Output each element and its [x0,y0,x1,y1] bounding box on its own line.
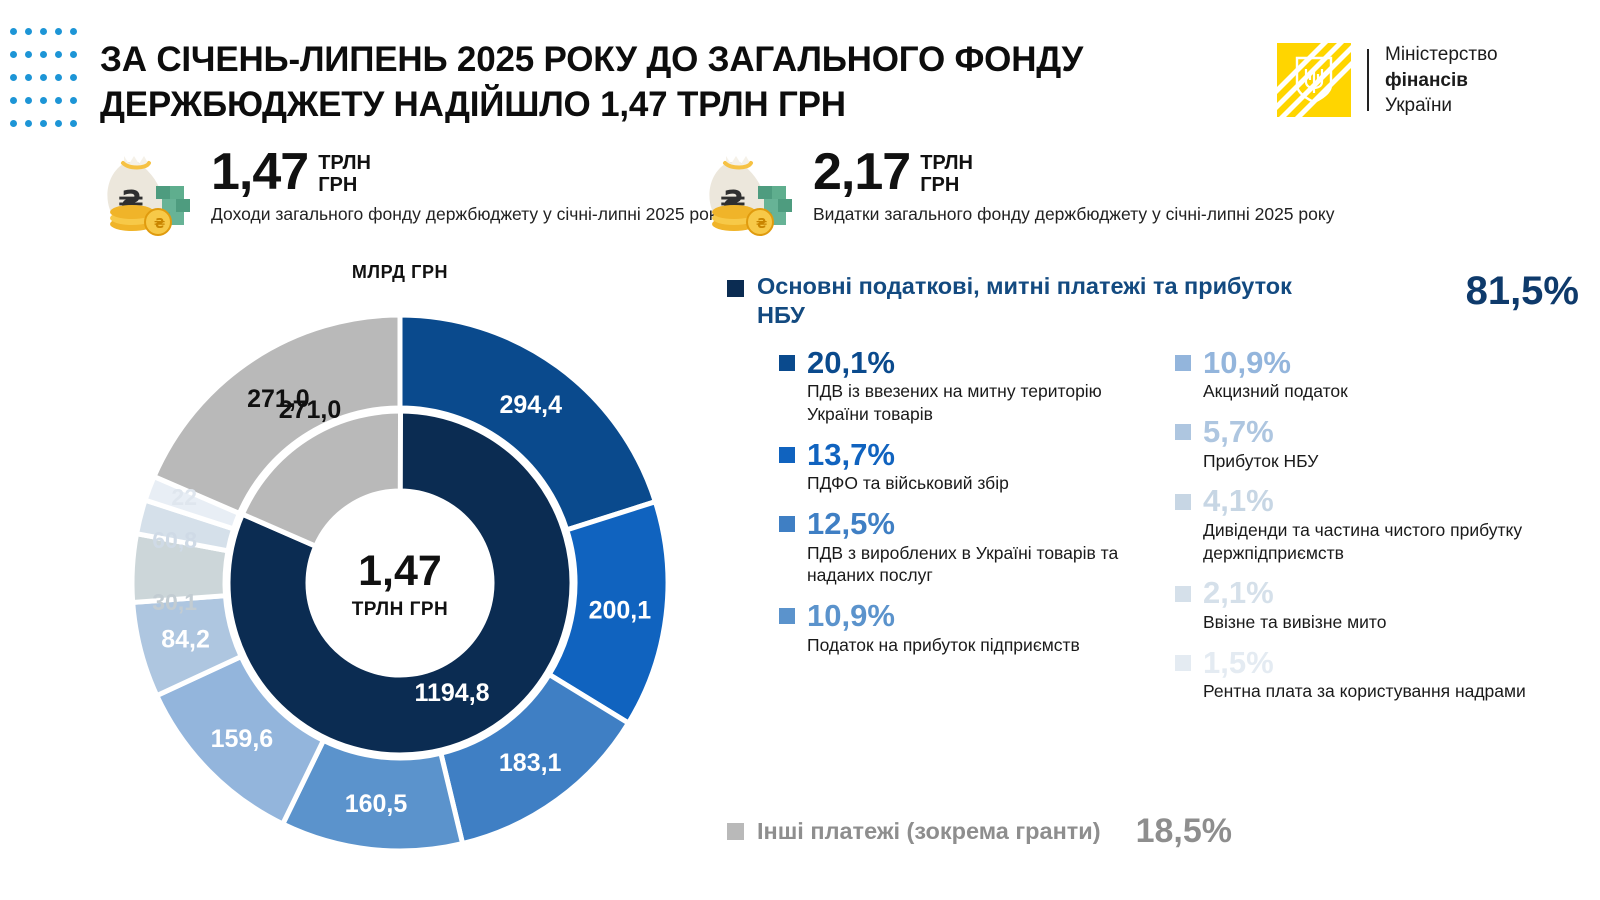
legend-item: 4,1%Дивіденди та частина чистого прибутк… [1175,485,1587,564]
legend-item-header: 13,7% [779,439,1167,472]
legend-item: 1,5%Рентна плата за користування надрами [1175,647,1587,703]
donut-outer-slice-label: 183,1 [499,749,562,777]
legend-item: 5,7%Прибуток НБУ [1175,416,1587,472]
legend-item: 10,9%Акцизний податок [1175,347,1587,403]
legend-column-left: 20,1%ПДВ із ввезених на митну територію … [727,347,1167,716]
grid-dot [40,51,47,58]
legend-item: 20,1%ПДВ із ввезених на митну територію … [779,347,1167,426]
legend-header-label: Основні податкові, митні платежі та приб… [757,272,1312,331]
legend-item-percent: 2,1% [1203,577,1274,610]
grid-dot [25,51,32,58]
grid-dot [55,97,62,104]
grid-dot [10,28,17,35]
legend-item: 12,5%ПДВ з вироблених в Україні товарів … [779,508,1167,587]
legend-item-percent: 1,5% [1203,647,1274,680]
grid-dot [70,51,77,58]
donut-thin-slice-label: 22 [171,484,197,510]
donut-outer-slice-label: 159,6 [211,725,274,753]
donut-thin-slice-label: 30,1 [152,589,197,615]
legend-item-header: 5,7% [1175,416,1587,449]
money-bag-icon: ₴ ₴ [96,142,201,242]
legend-item: 2,1%Ввізне та вивізне мито [1175,577,1587,633]
kpi-revenues: ₴ ₴ 1,47 ТРЛН ГРН Доходи загальног [96,142,725,242]
infographic-page: ЗА СІЧЕНЬ-ЛИПЕНЬ 2025 РОКУ ДО ЗАГАЛЬНОГО… [0,0,1600,900]
grid-dot [25,120,32,127]
grid-dot [40,97,47,104]
ministry-logo: Міністерство фінансів України [1277,42,1498,119]
kpi-expenditures: ₴ ₴ 2,17 ТРЛН ГРН Видатки загально [698,142,1334,242]
legend-header: Основні податкові, митні платежі та приб… [727,272,1587,331]
grid-dot [55,51,62,58]
grid-dot [55,28,62,35]
legend-item-header: 4,1% [1175,485,1587,518]
logo-line-1: Міністерство [1385,42,1498,68]
legend-item-description: Ввізне та вивізне мито [1175,611,1587,634]
money-bag-icon: ₴ ₴ [698,142,803,242]
donut-center-unit: ТРЛН ГРН [352,599,449,620]
page-title: ЗА СІЧЕНЬ-ЛИПЕНЬ 2025 РОКУ ДО ЗАГАЛЬНОГО… [100,38,1230,128]
grid-dot [40,28,47,35]
kpi-revenues-description: Доходи загального фонду держбюджету у сі… [211,203,725,226]
legend-item-description: ПДВ із ввезених на митну територію Украї… [779,380,1167,426]
svg-text:₴: ₴ [756,217,767,232]
legend-item-description: ПДФО та військовий збір [779,472,1167,495]
grid-dot [70,97,77,104]
kpi-expenditures-unit-1: ТРЛН [920,152,973,174]
grid-dot [70,120,77,127]
grid-dot [10,97,17,104]
chart-legend: Основні податкові, митні платежі та приб… [727,272,1587,716]
grid-dot [70,28,77,35]
legend-item-header: 1,5% [1175,647,1587,680]
legend-item-percent: 10,9% [1203,347,1291,380]
donut-inner-slice-label: 1194,8 [414,679,489,707]
legend-item-percent: 4,1% [1203,485,1274,518]
trident-emblem-icon [1277,43,1351,117]
kpi-expenditures-unit-2: ГРН [920,174,973,196]
donut-thin-slice-label: 60,8 [152,527,197,553]
grid-dot [55,74,62,81]
legend-item-swatch [1175,494,1191,510]
legend-column-right: 10,9%Акцизний податок5,7%Прибуток НБУ4,1… [1167,347,1587,716]
legend-item-swatch [779,355,795,371]
grid-dot [10,51,17,58]
legend-item-swatch [1175,355,1191,371]
legend-item-header: 12,5% [779,508,1167,541]
legend-item-header: 20,1% [779,347,1167,380]
legend-footer-label: Інші платежі (зокрема гранти) [757,818,1101,845]
legend-item-percent: 20,1% [807,347,895,380]
legend-item-percent: 5,7% [1203,416,1274,449]
legend-footer-swatch [727,823,744,840]
grid-dot [40,74,47,81]
grid-dot [40,120,47,127]
logo-wordmark: Міністерство фінансів України [1385,42,1498,119]
legend-item-swatch [779,516,795,532]
legend-item-description: Дивіденди та частина чистого прибутку де… [1175,519,1587,565]
legend-item-description: ПДВ з вироблених в Україні товарів та на… [779,542,1167,588]
kpi-expenditures-description: Видатки загального фонду держбюджету у с… [813,203,1334,226]
grid-dot [10,74,17,81]
legend-footer: Інші платежі (зокрема гранти) 18,5% [727,812,1232,851]
legend-item: 10,9%Податок на прибуток підприємств [779,600,1167,656]
svg-text:₴: ₴ [154,217,165,232]
legend-item-swatch [1175,586,1191,602]
logo-divider [1367,49,1369,111]
revenue-donut-chart: МЛРД ГРН 294,4200,1183,1160,5159,684,227… [60,262,740,882]
legend-item-swatch [779,608,795,624]
legend-footer-percent: 18,5% [1136,812,1232,851]
legend-item-percent: 13,7% [807,439,895,472]
donut-svg: 294,4200,1183,1160,5159,684,2271,02260,8… [115,298,685,868]
legend-header-percent: 81,5% [1466,269,1579,314]
kpi-revenues-unit-1: ТРЛН [318,152,371,174]
donut-outer-slice-label: 84,2 [161,625,210,653]
donut-inner-slice-label: 271,0 [279,396,342,424]
dot-grid-decoration [10,28,76,134]
legend-item-swatch [779,447,795,463]
donut-center-value: 1,47 [358,547,442,595]
grid-dot [55,120,62,127]
legend-item-description: Прибуток НБУ [1175,450,1587,473]
kpi-revenues-unit-2: ГРН [318,174,371,196]
legend-header-swatch [727,280,744,297]
legend-item-header: 2,1% [1175,577,1587,610]
legend-item: 13,7%ПДФО та військовий збір [779,439,1167,495]
grid-dot [70,74,77,81]
legend-item-swatch [1175,655,1191,671]
grid-dot [25,28,32,35]
grid-dot [25,74,32,81]
donut-outer-slice-label: 294,4 [499,391,562,419]
logo-line-3: України [1385,93,1498,119]
legend-item-swatch [1175,424,1191,440]
grid-dot [25,97,32,104]
legend-item-header: 10,9% [1175,347,1587,380]
donut-outer-slice-label: 160,5 [345,790,408,818]
legend-item-description: Акцизний податок [1175,380,1587,403]
legend-item-percent: 12,5% [807,508,895,541]
kpi-revenues-value: 1,47 [211,148,308,197]
donut-outer-slice-label: 200,1 [589,597,652,625]
legend-item-description: Рентна плата за користування надрами [1175,680,1587,703]
legend-item-header: 10,9% [779,600,1167,633]
kpi-expenditures-value: 2,17 [813,148,910,197]
logo-line-2: фінансів [1385,68,1498,94]
grid-dot [10,120,17,127]
legend-item-description: Податок на прибуток підприємств [779,634,1167,657]
chart-unit-label: МЛРД ГРН [60,262,740,283]
legend-item-percent: 10,9% [807,600,895,633]
